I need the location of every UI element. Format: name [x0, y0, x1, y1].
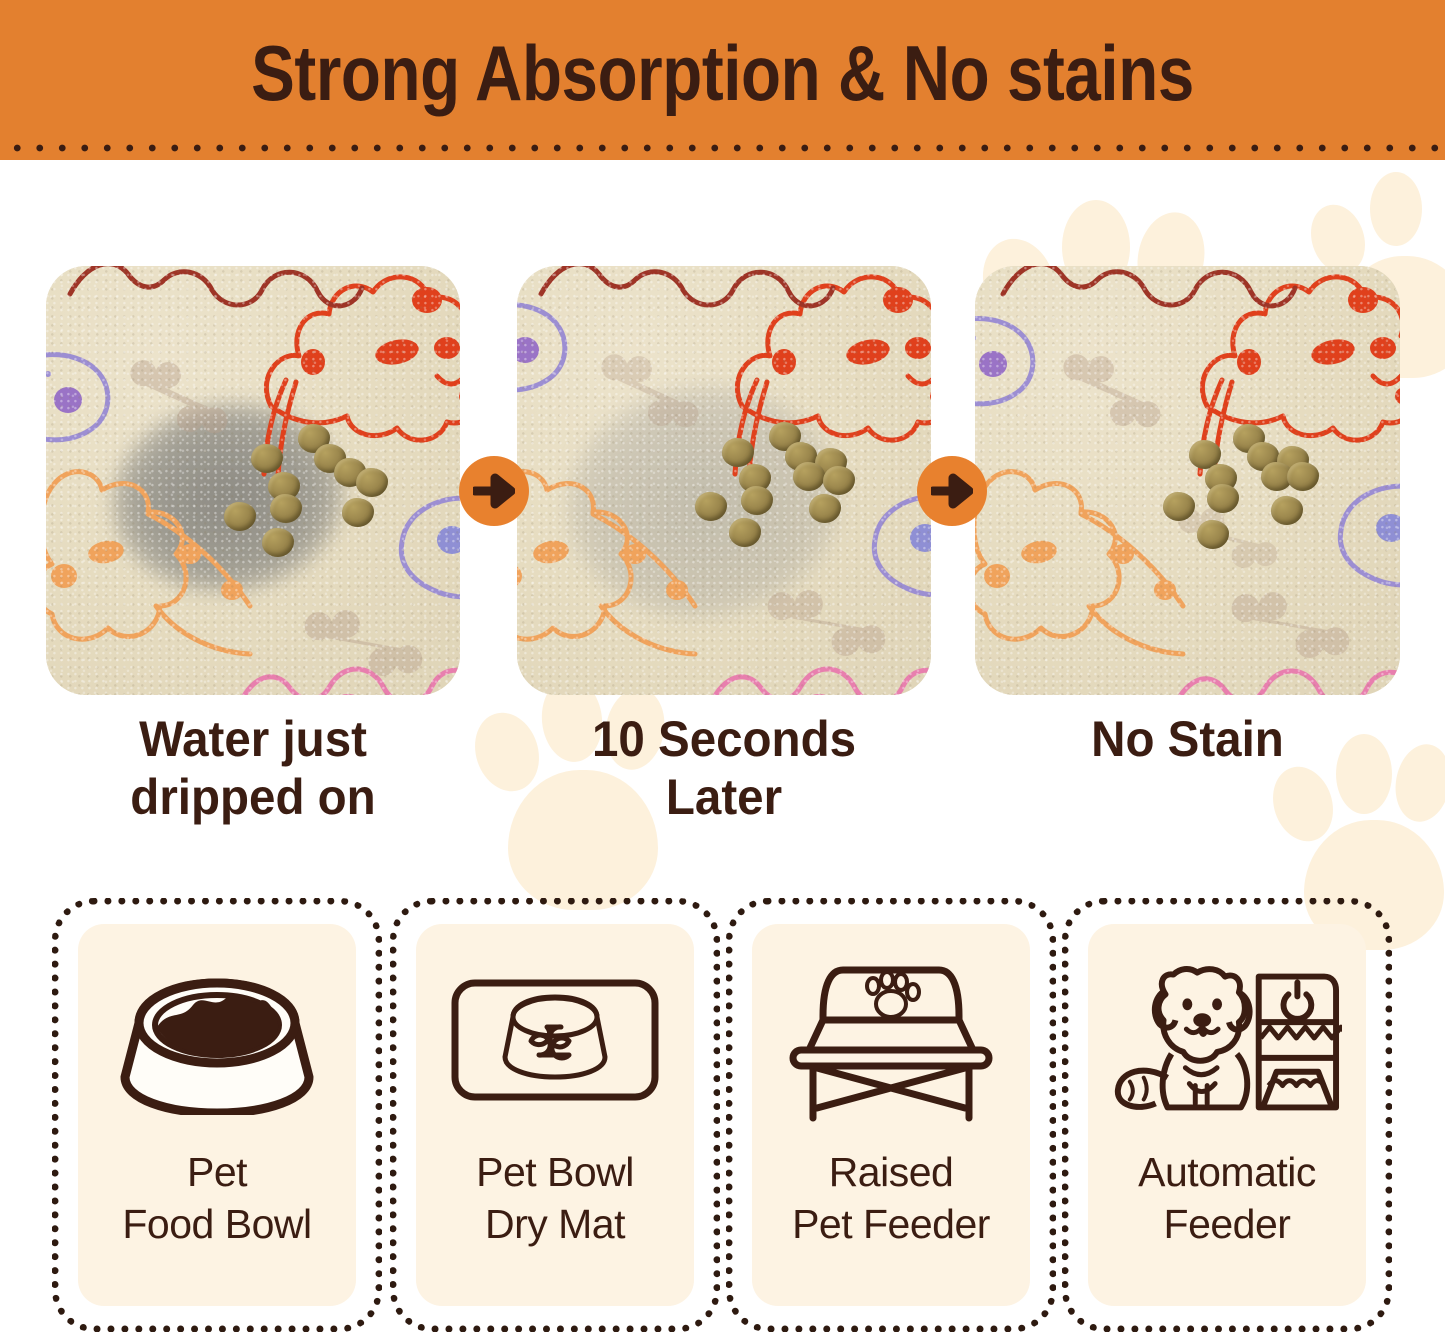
card-panel: Pet Bowl Dry Mat — [416, 924, 694, 1306]
mat-texture — [975, 266, 1400, 695]
arrow-right-icon — [473, 472, 515, 510]
use-case-card-pet-bowl-dry-mat[interactable]: Pet Bowl Dry Mat — [388, 896, 726, 1338]
caption-line-2: dripped on — [56, 768, 449, 826]
pet-bowl-dry-mat-icon — [440, 950, 670, 1130]
card-label-line-1: Pet Bowl — [421, 1146, 689, 1198]
automatic-feeder-icon — [1112, 950, 1342, 1130]
header-dotted-divider — [0, 142, 1445, 154]
card-label-line-2: Dry Mat — [421, 1198, 689, 1250]
header-banner: Strong Absorption & No stains — [0, 0, 1445, 160]
use-case-card-pet-food-bowl[interactable]: Pet Food Bowl — [50, 896, 388, 1338]
page-title: Strong Absorption & No stains — [116, 30, 1330, 116]
demo-caption-water-dripped: Water just dripped on — [56, 710, 449, 826]
use-case-card-raised-pet-feeder[interactable]: Raised Pet Feeder — [724, 896, 1062, 1338]
card-label: Pet Bowl Dry Mat — [421, 1146, 689, 1250]
card-label-line-1: Raised — [757, 1146, 1025, 1198]
card-label: Pet Food Bowl — [83, 1146, 351, 1250]
card-panel: Pet Food Bowl — [78, 924, 356, 1306]
mat-texture — [46, 266, 460, 695]
caption-line-1: No Stain — [986, 710, 1390, 768]
card-label-line-1: Pet — [83, 1146, 351, 1198]
mat-texture — [517, 266, 931, 695]
caption-line-1: 10 Seconds — [527, 710, 920, 768]
step-arrow-2 — [917, 456, 987, 526]
card-label-line-2: Food Bowl — [83, 1198, 351, 1250]
power-icon — [1284, 983, 1312, 1019]
demo-caption-ten-seconds: 10 Seconds Later — [527, 710, 920, 826]
demo-caption-no-stain: No Stain — [986, 710, 1390, 768]
card-label-line-2: Feeder — [1093, 1198, 1361, 1250]
demo-photo-no-stain — [975, 266, 1400, 695]
arrow-right-icon — [931, 472, 973, 510]
card-label: Automatic Feeder — [1093, 1146, 1361, 1250]
card-panel: Automatic Feeder — [1088, 924, 1366, 1306]
raised-pet-feeder-icon — [776, 950, 1006, 1130]
dog-icon — [1118, 969, 1250, 1107]
absorption-demo-strip — [0, 266, 1445, 696]
use-case-cards: Pet Food Bowl Pet Bowl Dry Mat — [0, 896, 1445, 1342]
pet-food-bowl-icon — [102, 950, 332, 1130]
card-label-line-1: Automatic — [1093, 1146, 1361, 1198]
card-label-line-2: Pet Feeder — [757, 1198, 1025, 1250]
card-panel: Raised Pet Feeder — [752, 924, 1030, 1306]
step-arrow-1 — [459, 456, 529, 526]
use-case-card-automatic-feeder[interactable]: Automatic Feeder — [1060, 896, 1398, 1338]
demo-photo-ten-seconds — [517, 266, 931, 695]
paw-icon — [867, 972, 919, 1017]
caption-line-1: Water just — [56, 710, 449, 768]
caption-line-2: Later — [527, 768, 920, 826]
card-label: Raised Pet Feeder — [757, 1146, 1025, 1250]
demo-photo-water-dripped — [46, 266, 460, 695]
feeder-machine-icon — [1259, 977, 1342, 1108]
